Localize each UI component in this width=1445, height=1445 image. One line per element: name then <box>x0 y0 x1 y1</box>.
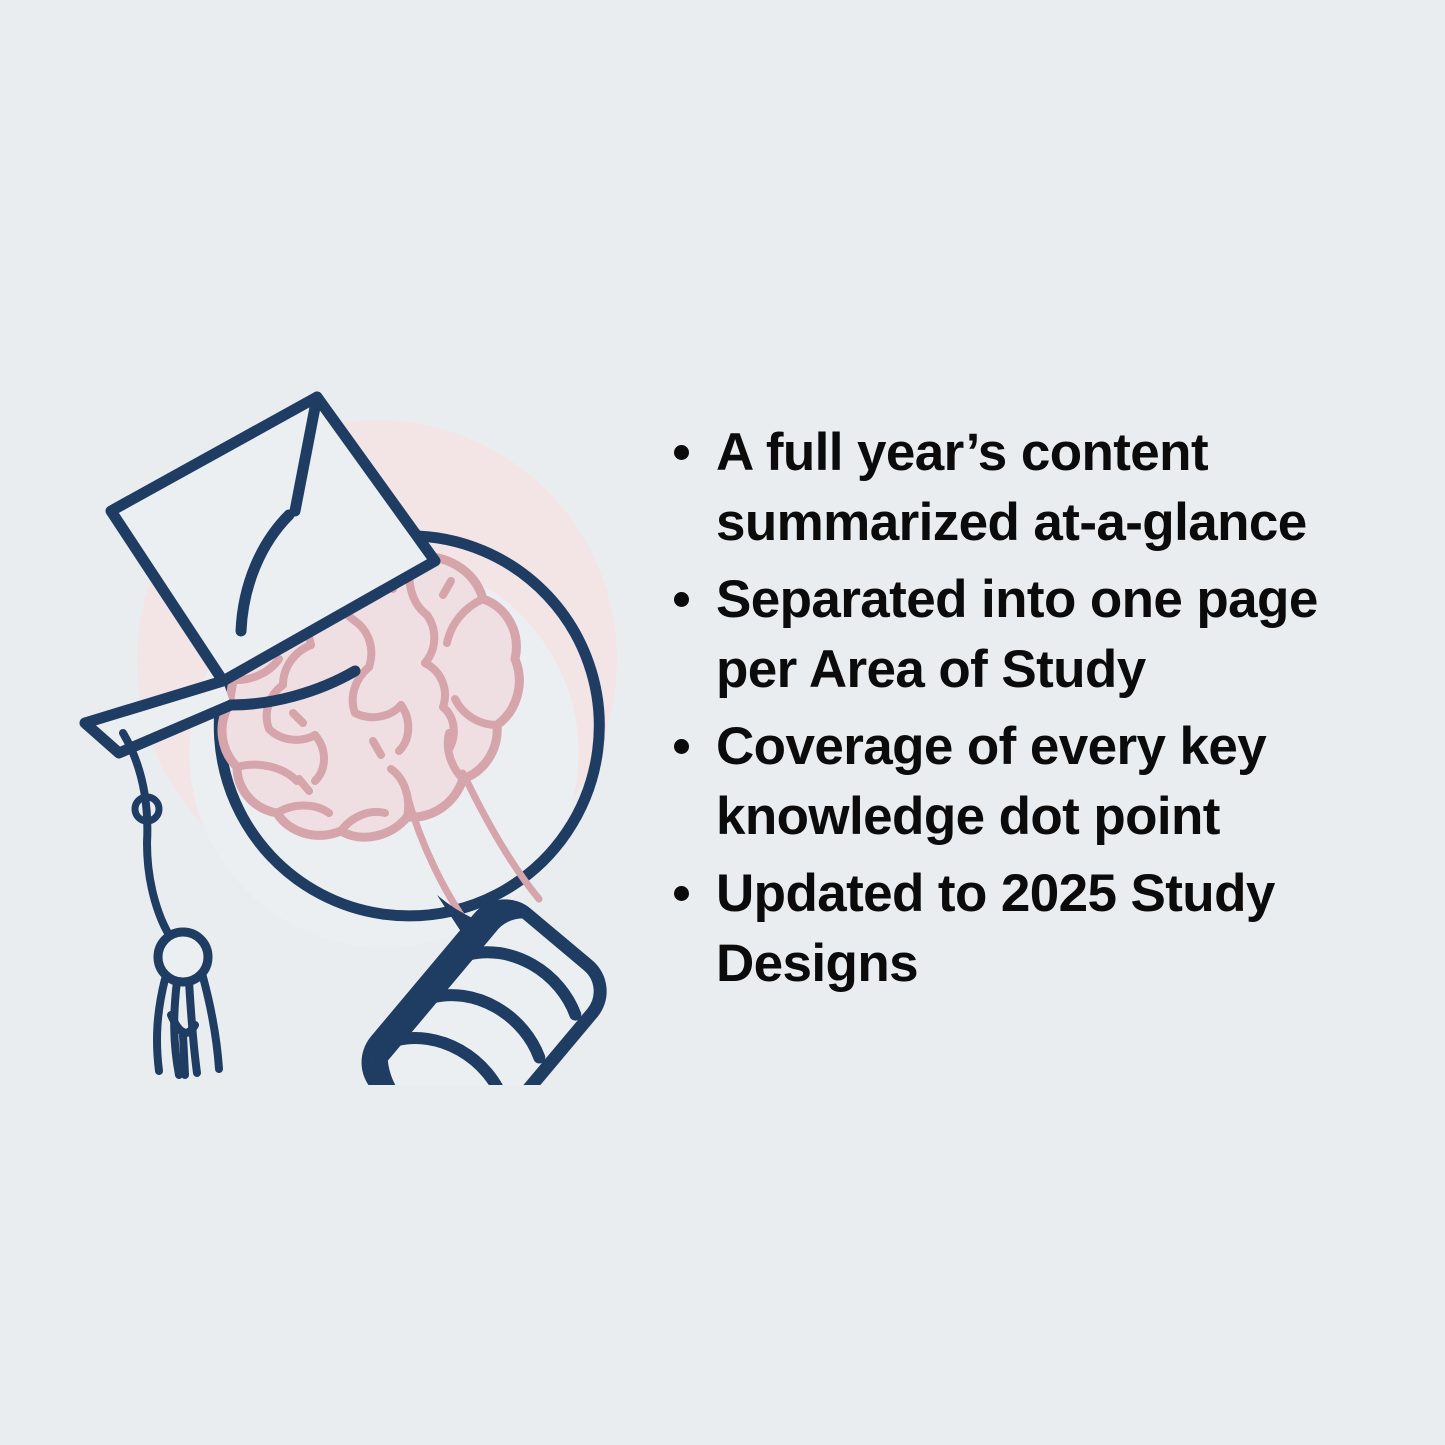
feature-bullet-panel: A full year’s content summarized at-a-gl… <box>660 418 1380 1000</box>
bullet-dot-icon <box>674 592 689 607</box>
list-item: Separated into one page per Area of Stud… <box>660 565 1380 706</box>
list-item: Updated to 2025 Study Designs <box>660 859 1380 1000</box>
list-item: A full year’s content summarized at-a-gl… <box>660 418 1380 559</box>
bullet-text: A full year’s content summarized at-a-gl… <box>716 418 1380 559</box>
poster-canvas: A full year’s content summarized at-a-gl… <box>0 0 1445 1445</box>
bullet-text: Coverage of every key knowledge dot poin… <box>716 712 1380 853</box>
bullet-text: Separated into one page per Area of Stud… <box>716 565 1380 706</box>
list-item: Coverage of every key knowledge dot poin… <box>660 712 1380 853</box>
bullet-dot-icon <box>674 739 689 754</box>
bullet-text: Updated to 2025 Study Designs <box>716 859 1380 1000</box>
feature-bullet-list: A full year’s content summarized at-a-gl… <box>660 418 1380 1000</box>
bullet-dot-icon <box>674 886 689 901</box>
graduation-cap-brain-lightbulb-illustration <box>55 375 675 1085</box>
bullet-dot-icon <box>674 445 689 460</box>
